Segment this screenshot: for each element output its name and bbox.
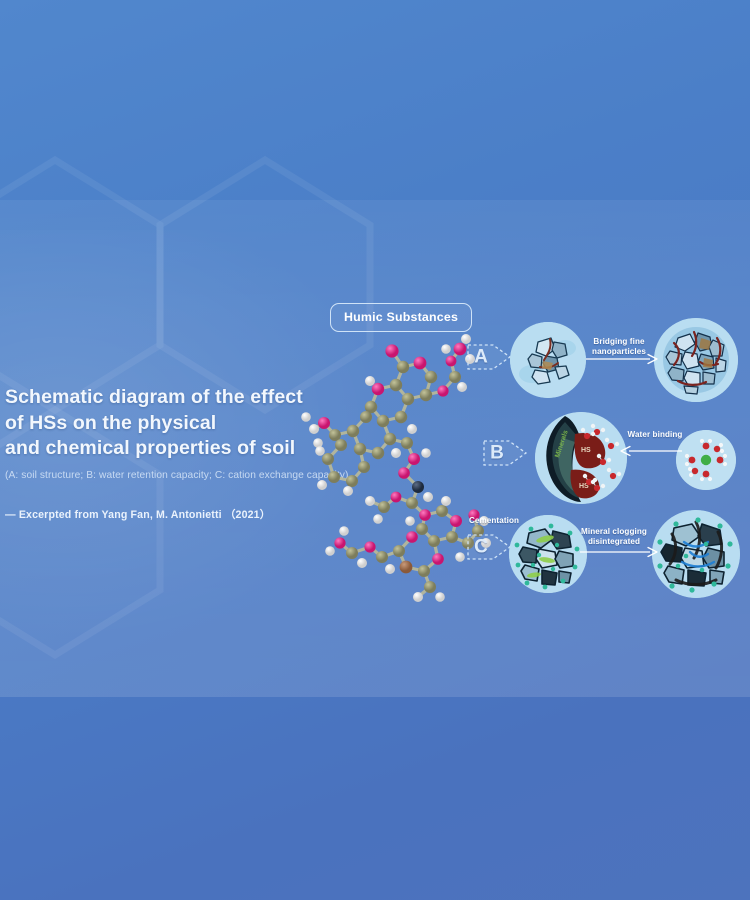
process-label-a-line1: Bridging fine [576,337,662,347]
arrow-right-icon [586,352,658,366]
process-label-b: Water binding [622,430,688,440]
process-label-c-line1: Mineral clogging [567,527,661,537]
circle-humic-substance-water-shell: Minerals HSHS [535,412,627,504]
marker-letter-c: C [470,538,492,557]
circle-loose-soil-particles [510,322,586,398]
arrow-right-icon [580,545,658,559]
marker-letter-a: A [470,348,492,367]
diagram-canvas: Schematic diagram of the effect of HSs o… [0,0,750,900]
circle-aggregated-soil-particles [654,318,738,402]
pathway-marker-b: B [482,432,528,474]
svg-text:HS: HS [581,447,591,454]
circle-disintegrated-mineral-aggregate [652,510,740,598]
arrow-left-icon [620,444,682,458]
pathway-marker-a: A [466,336,512,378]
cementation-label: Cementation [461,516,527,526]
marker-letter-b: B [486,444,508,463]
pathway-marker-c: C [466,526,512,568]
